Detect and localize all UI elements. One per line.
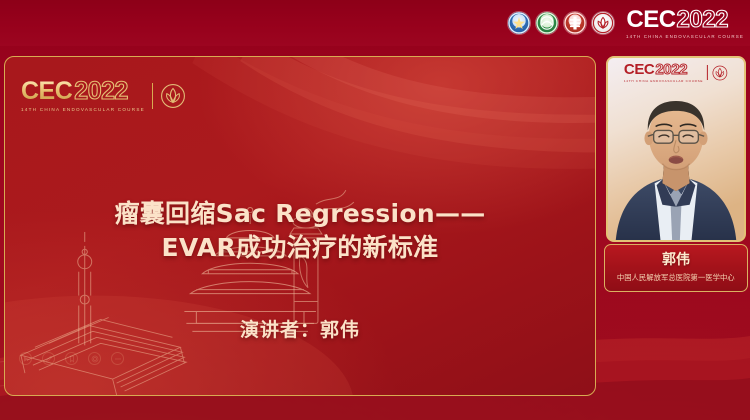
slide-cec-year: 2022: [74, 79, 128, 104]
bookmark-button[interactable]: [65, 352, 78, 365]
org-logo-white: [592, 12, 614, 34]
logo-divider: [152, 83, 153, 109]
slide-content-area[interactable]: CEC 2022 14TH CHINA ENDOVASCULAR COURSE …: [4, 56, 596, 396]
gear-icon: [91, 355, 99, 363]
speaker-name: 郭伟: [662, 253, 690, 268]
medical-emblem-blue-icon: [508, 12, 530, 34]
cec-year: 2022: [677, 8, 728, 32]
speaker-video-feed[interactable]: [606, 56, 746, 242]
ellipsis-icon: [114, 355, 122, 363]
speaker-video-panel[interactable]: CEC 2022 14TH CHINA ENDOVASCULAR COURSE: [606, 56, 746, 242]
lotus-emblem-icon: [592, 12, 614, 34]
cec-brand-logo: CEC 2022 14TH CHINA ENDOVASCULAR COURSE: [626, 8, 742, 39]
top-header-bar: CEC 2022 14TH CHINA ENDOVASCULAR COURSE: [0, 0, 750, 46]
video-cec-year: 2022: [655, 62, 687, 77]
slide-title-line-1: 瘤囊回缩Sac Regression——: [114, 199, 485, 228]
lotus-emblem-icon: [712, 65, 728, 81]
speaker-organization: 中国人民解放军总医院第一医学中心: [617, 272, 735, 283]
slide-cec-wordmark: CEC: [21, 79, 72, 104]
more-button[interactable]: [111, 352, 124, 365]
lotus-emblem-icon: [160, 83, 186, 109]
cec-wordmark: CEC: [626, 8, 675, 32]
org-logo-blue: [508, 12, 530, 34]
medical-emblem-green-icon: [536, 12, 558, 34]
medical-emblem-red-icon: [564, 12, 586, 34]
slide-cec-logo: CEC 2022 14TH CHINA ENDOVASCULAR COURSE: [21, 79, 186, 112]
slide-title: 瘤囊回缩Sac Regression—— EVAR成功治疗的新标准: [5, 197, 595, 264]
cec-subtitle: 14TH CHINA ENDOVASCULAR COURSE: [626, 34, 744, 39]
pencil-icon: [45, 355, 53, 363]
edit-button[interactable]: [42, 352, 55, 365]
play-button[interactable]: [19, 352, 32, 365]
video-cec-subtitle: 14TH CHINA ENDOVASCULAR COURSE: [624, 79, 703, 83]
org-logo-red: [564, 12, 586, 34]
speaker-portrait: [608, 58, 744, 240]
play-icon: [22, 355, 30, 363]
speaker-name-plate: 郭伟 中国人民解放军总医院第一医学中心: [604, 244, 748, 292]
video-cec-logo-overlay: CEC 2022 14TH CHINA ENDOVASCULAR COURSE: [624, 62, 728, 83]
bookmark-icon: [68, 355, 76, 363]
slide-speaker-label: 演讲者：郭伟: [5, 315, 595, 342]
org-logo-green: [536, 12, 558, 34]
video-logo-divider: [707, 65, 708, 80]
settings-button[interactable]: [88, 352, 101, 365]
presentation-viewer: CEC 2022 14TH CHINA ENDOVASCULAR COURSE: [0, 0, 750, 420]
organization-logo-group: CEC 2022 14TH CHINA ENDOVASCULAR COURSE: [508, 8, 742, 39]
player-control-bar[interactable]: [19, 352, 124, 365]
video-cec-wordmark: CEC: [624, 62, 654, 77]
slide-cec-subtitle: 14TH CHINA ENDOVASCULAR COURSE: [21, 107, 145, 112]
slide-title-line-2: EVAR成功治疗的新标准: [5, 231, 595, 265]
